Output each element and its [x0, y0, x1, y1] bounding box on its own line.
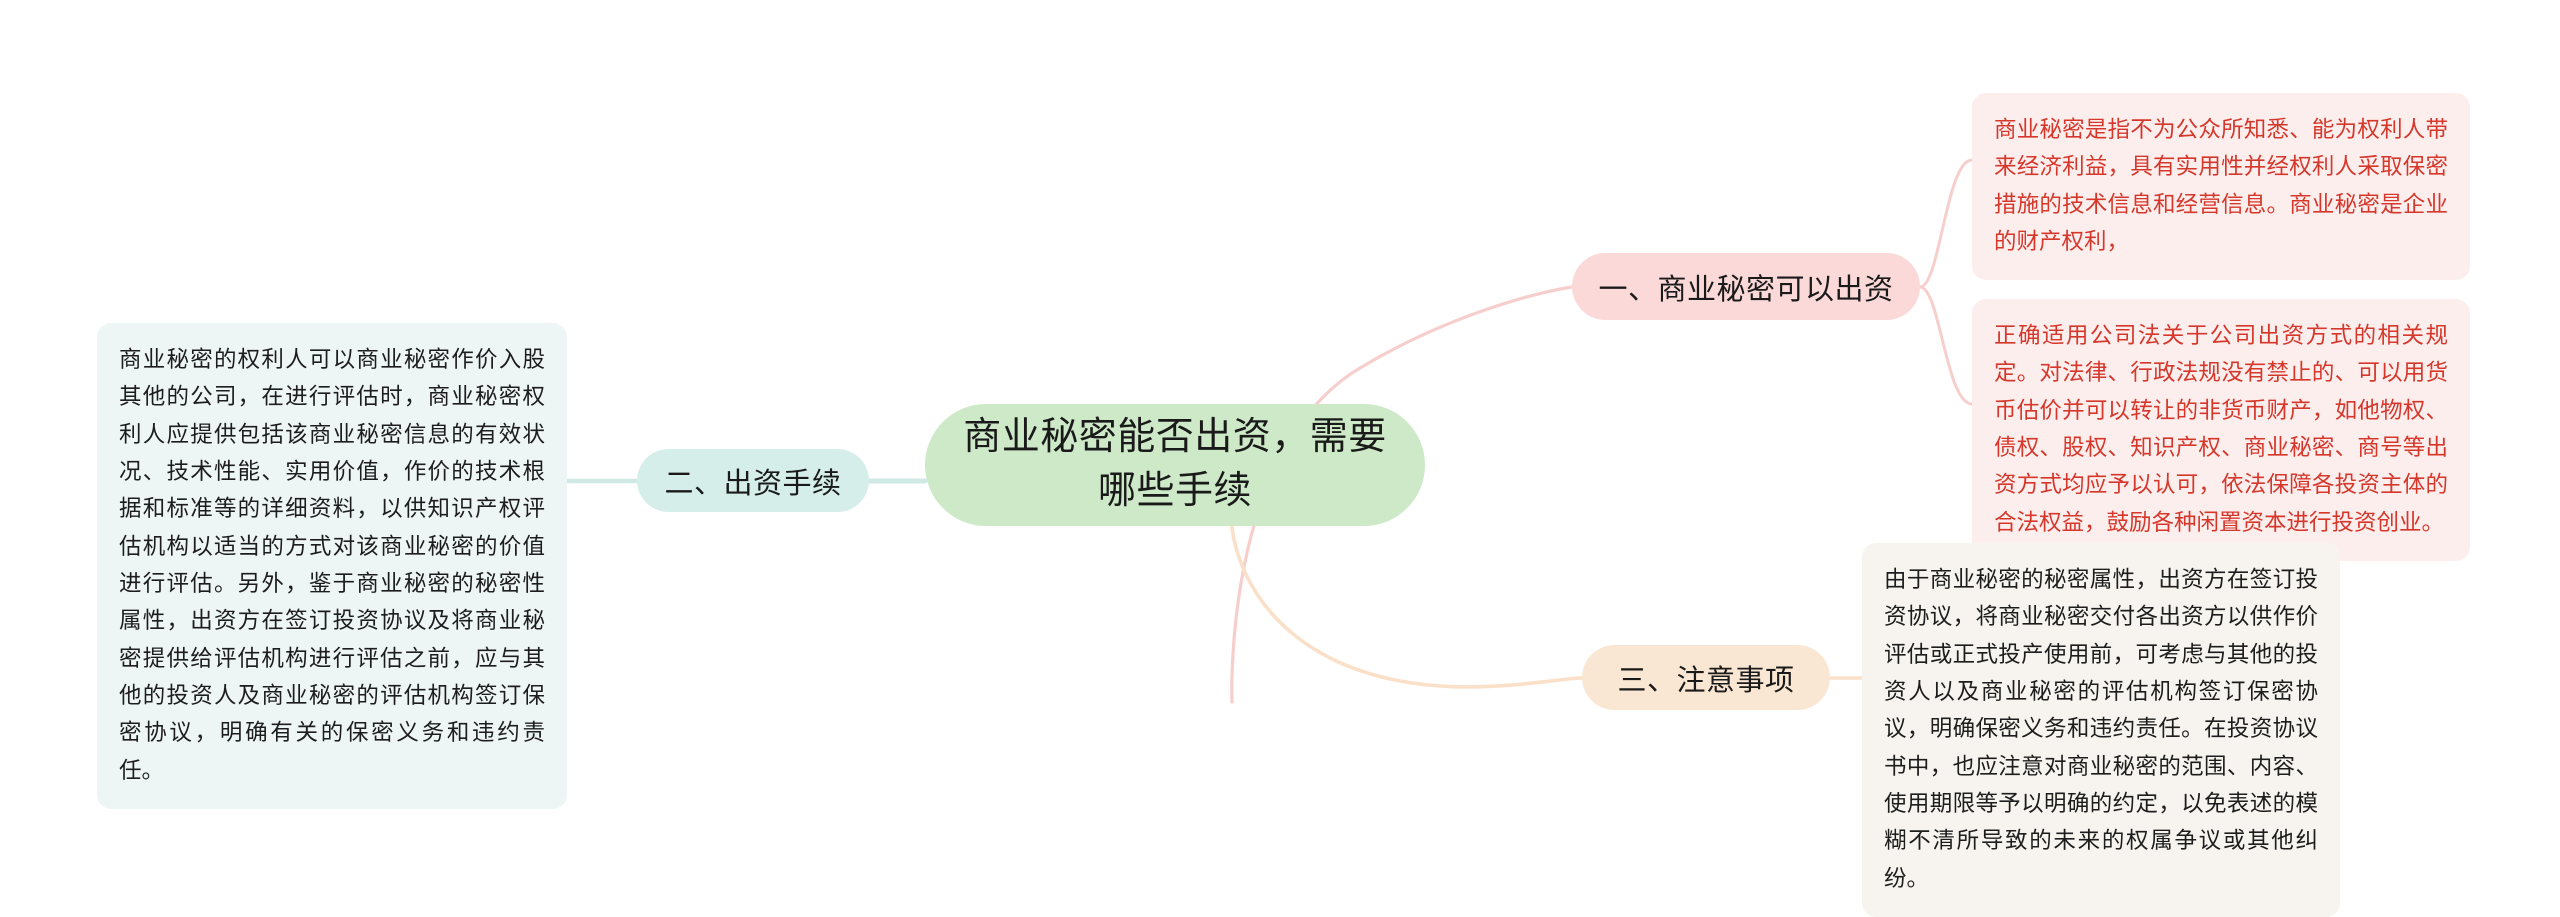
- branch-node-3[interactable]: 三、注意事项: [1582, 645, 1830, 710]
- leaf-node-1-1[interactable]: 商业秘密是指不为公众所知悉、能为权利人带来经济利益，具有实用性并经权利人采取保密…: [1972, 93, 2470, 280]
- connector-branch-1-to-leaf-1-1: [1920, 160, 1972, 287]
- connector-branch-1-to-leaf-1-2: [1920, 287, 1972, 404]
- connector-root-to-branch-3: [1232, 526, 1582, 687]
- root-node[interactable]: 商业秘密能否出资，需要哪些手续: [925, 404, 1425, 526]
- branch-node-1-label: 一、商业秘密可以出资: [1598, 266, 1893, 308]
- branch-node-1[interactable]: 一、商业秘密可以出资: [1572, 253, 1920, 320]
- mindmap-canvas: 商业秘密能否出资，需要哪些手续 一、商业秘密可以出资 商业秘密是指不为公众所知悉…: [0, 0, 2560, 901]
- leaf-node-1-2-text: 正确适用公司法关于公司出资方式的相关规定。对法律、行政法规没有禁止的、可以用货币…: [1994, 323, 2448, 535]
- leaf-node-1-1-text: 商业秘密是指不为公众所知悉、能为权利人带来经济利益，具有实用性并经权利人采取保密…: [1994, 117, 2448, 254]
- branch-node-3-label: 三、注意事项: [1617, 657, 1794, 699]
- branch-node-2-label: 二、出资手续: [664, 460, 841, 502]
- branch-node-2[interactable]: 二、出资手续: [637, 449, 869, 512]
- leaf-node-1-2[interactable]: 正确适用公司法关于公司出资方式的相关规定。对法律、行政法规没有禁止的、可以用货币…: [1972, 299, 2470, 561]
- leaf-node-3-1[interactable]: 由于商业秘密的秘密属性，出资方在签订投资协议，将商业秘密交付各出资方以供作价评估…: [1862, 543, 2340, 917]
- root-node-label: 商业秘密能否出资，需要哪些手续: [953, 411, 1397, 519]
- leaf-node-3-1-text: 由于商业秘密的秘密属性，出资方在签订投资协议，将商业秘密交付各出资方以供作价评估…: [1884, 567, 2318, 891]
- leaf-node-2-1-text: 商业秘密的权利人可以商业秘密作价入股其他的公司，在进行评估时，商业秘密权利人应提…: [119, 347, 545, 783]
- leaf-node-2-1[interactable]: 商业秘密的权利人可以商业秘密作价入股其他的公司，在进行评估时，商业秘密权利人应提…: [97, 323, 567, 809]
